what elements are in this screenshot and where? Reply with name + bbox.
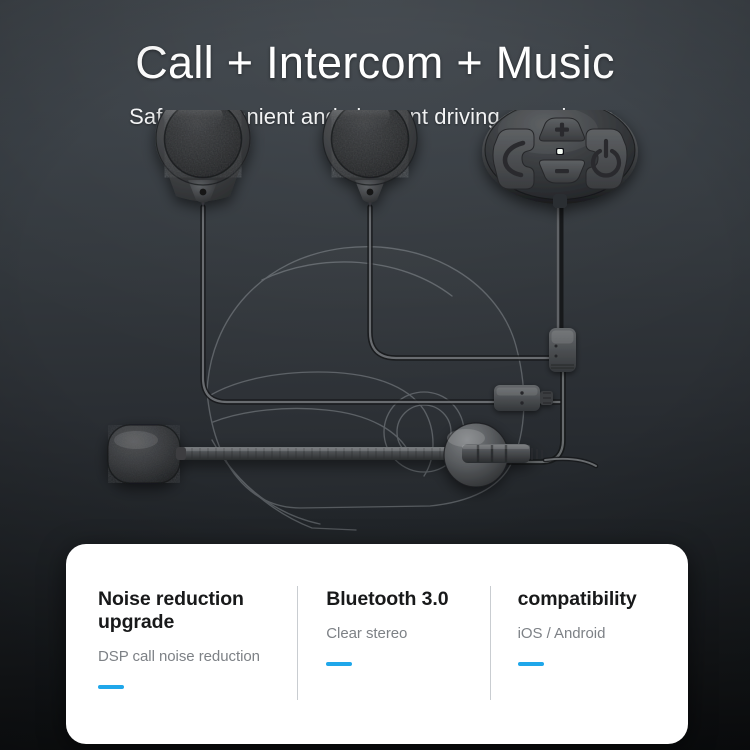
accent-bar [98,685,124,689]
led-indicator [556,148,564,155]
minus-icon [555,169,569,173]
speaker-right [323,110,417,208]
feature-subtitle: iOS / Android [518,625,688,642]
volume-down-button[interactable] [540,160,585,183]
power-button[interactable] [586,129,627,189]
feature-subtitle: DSP call noise reduction [98,648,297,665]
feature-title: Noise reduction upgrade [98,588,278,634]
feature-card: Noise reduction upgrade DSP call noise r… [66,544,688,744]
feature-title: Bluetooth 3.0 [326,588,489,611]
product-image [0,110,750,540]
feature-subtitle: Clear stereo [326,625,489,642]
accent-bar [518,662,544,666]
volume-up-button[interactable] [540,118,585,141]
inline-cable-module [549,328,576,372]
feature-title: compatibility [518,588,688,611]
page-title: Call + Intercom + Music [0,37,750,89]
feature-compatibility: compatibility iOS / Android [491,544,688,744]
accent-bar [326,662,352,666]
control-module [482,110,638,208]
feature-noise-reduction: Noise reduction upgrade DSP call noise r… [66,544,297,744]
product-banner: Call + Intercom + Music Safe, convenient… [0,0,750,750]
speaker-left [155,110,251,208]
feature-bluetooth: Bluetooth 3.0 Clear stereo [298,544,489,744]
usb-connector [494,385,553,411]
